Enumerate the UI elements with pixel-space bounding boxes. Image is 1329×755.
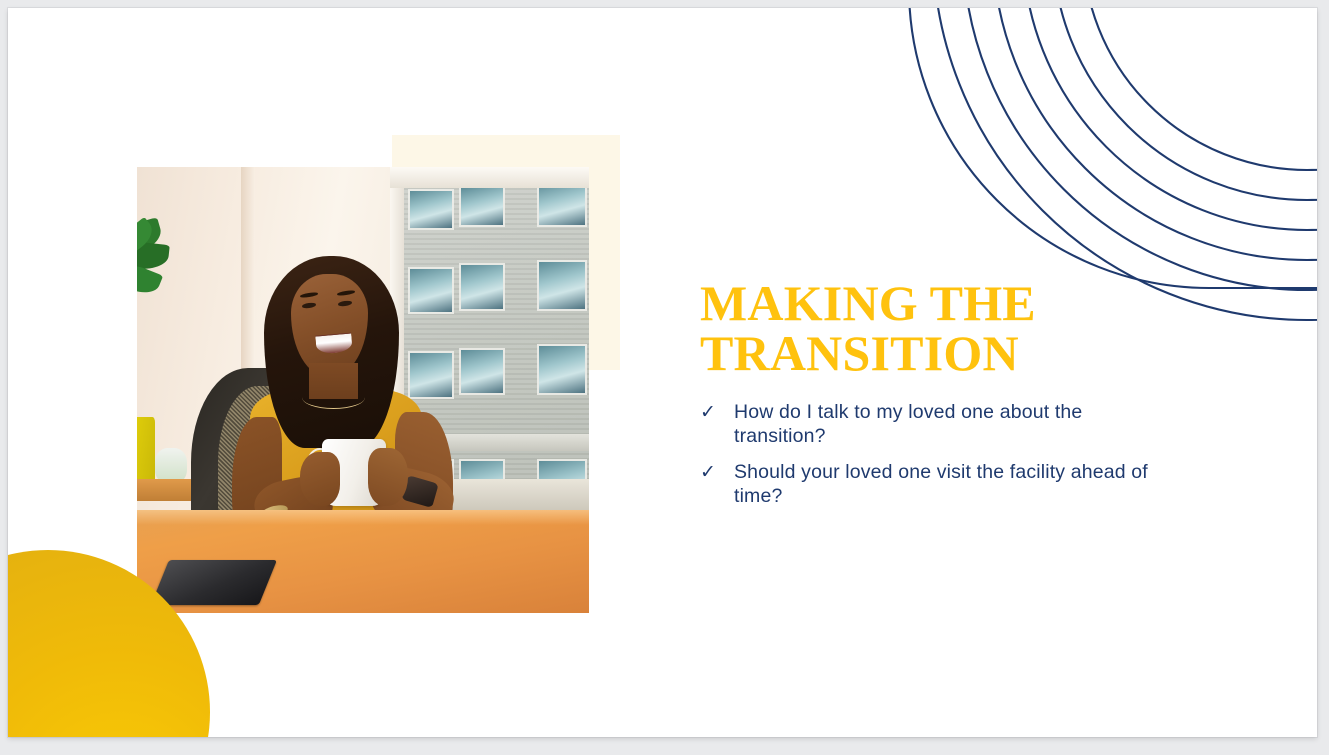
hero-photo xyxy=(137,167,589,613)
photo-content xyxy=(137,167,589,613)
photo-person-necklace xyxy=(302,386,365,409)
list-item: ✓ Should your loved one visit the facili… xyxy=(700,460,1170,508)
photo-person-hand-left xyxy=(300,452,341,506)
slide-title: MAKING THE TRANSITION xyxy=(700,278,1170,378)
photo-yellow-object xyxy=(137,417,155,484)
bullet-list: ✓ How do I talk to my loved one about th… xyxy=(700,400,1170,508)
photo-plant xyxy=(137,212,196,324)
list-item: ✓ How do I talk to my loved one about th… xyxy=(700,400,1170,448)
check-icon: ✓ xyxy=(700,400,734,424)
photo-smartphone xyxy=(151,560,277,605)
slide-content: MAKING THE TRANSITION ✓ How do I talk to… xyxy=(700,278,1170,520)
presentation-slide: MAKING THE TRANSITION ✓ How do I talk to… xyxy=(8,8,1317,737)
bullet-text: How do I talk to my loved one about the … xyxy=(734,400,1170,448)
check-icon: ✓ xyxy=(700,460,734,484)
photo-person-hand-right xyxy=(368,448,409,506)
screenshot-canvas: MAKING THE TRANSITION ✓ How do I talk to… xyxy=(0,0,1329,755)
bullet-text: Should your loved one visit the facility… xyxy=(734,460,1170,508)
photo-window-frame-top xyxy=(390,167,589,188)
